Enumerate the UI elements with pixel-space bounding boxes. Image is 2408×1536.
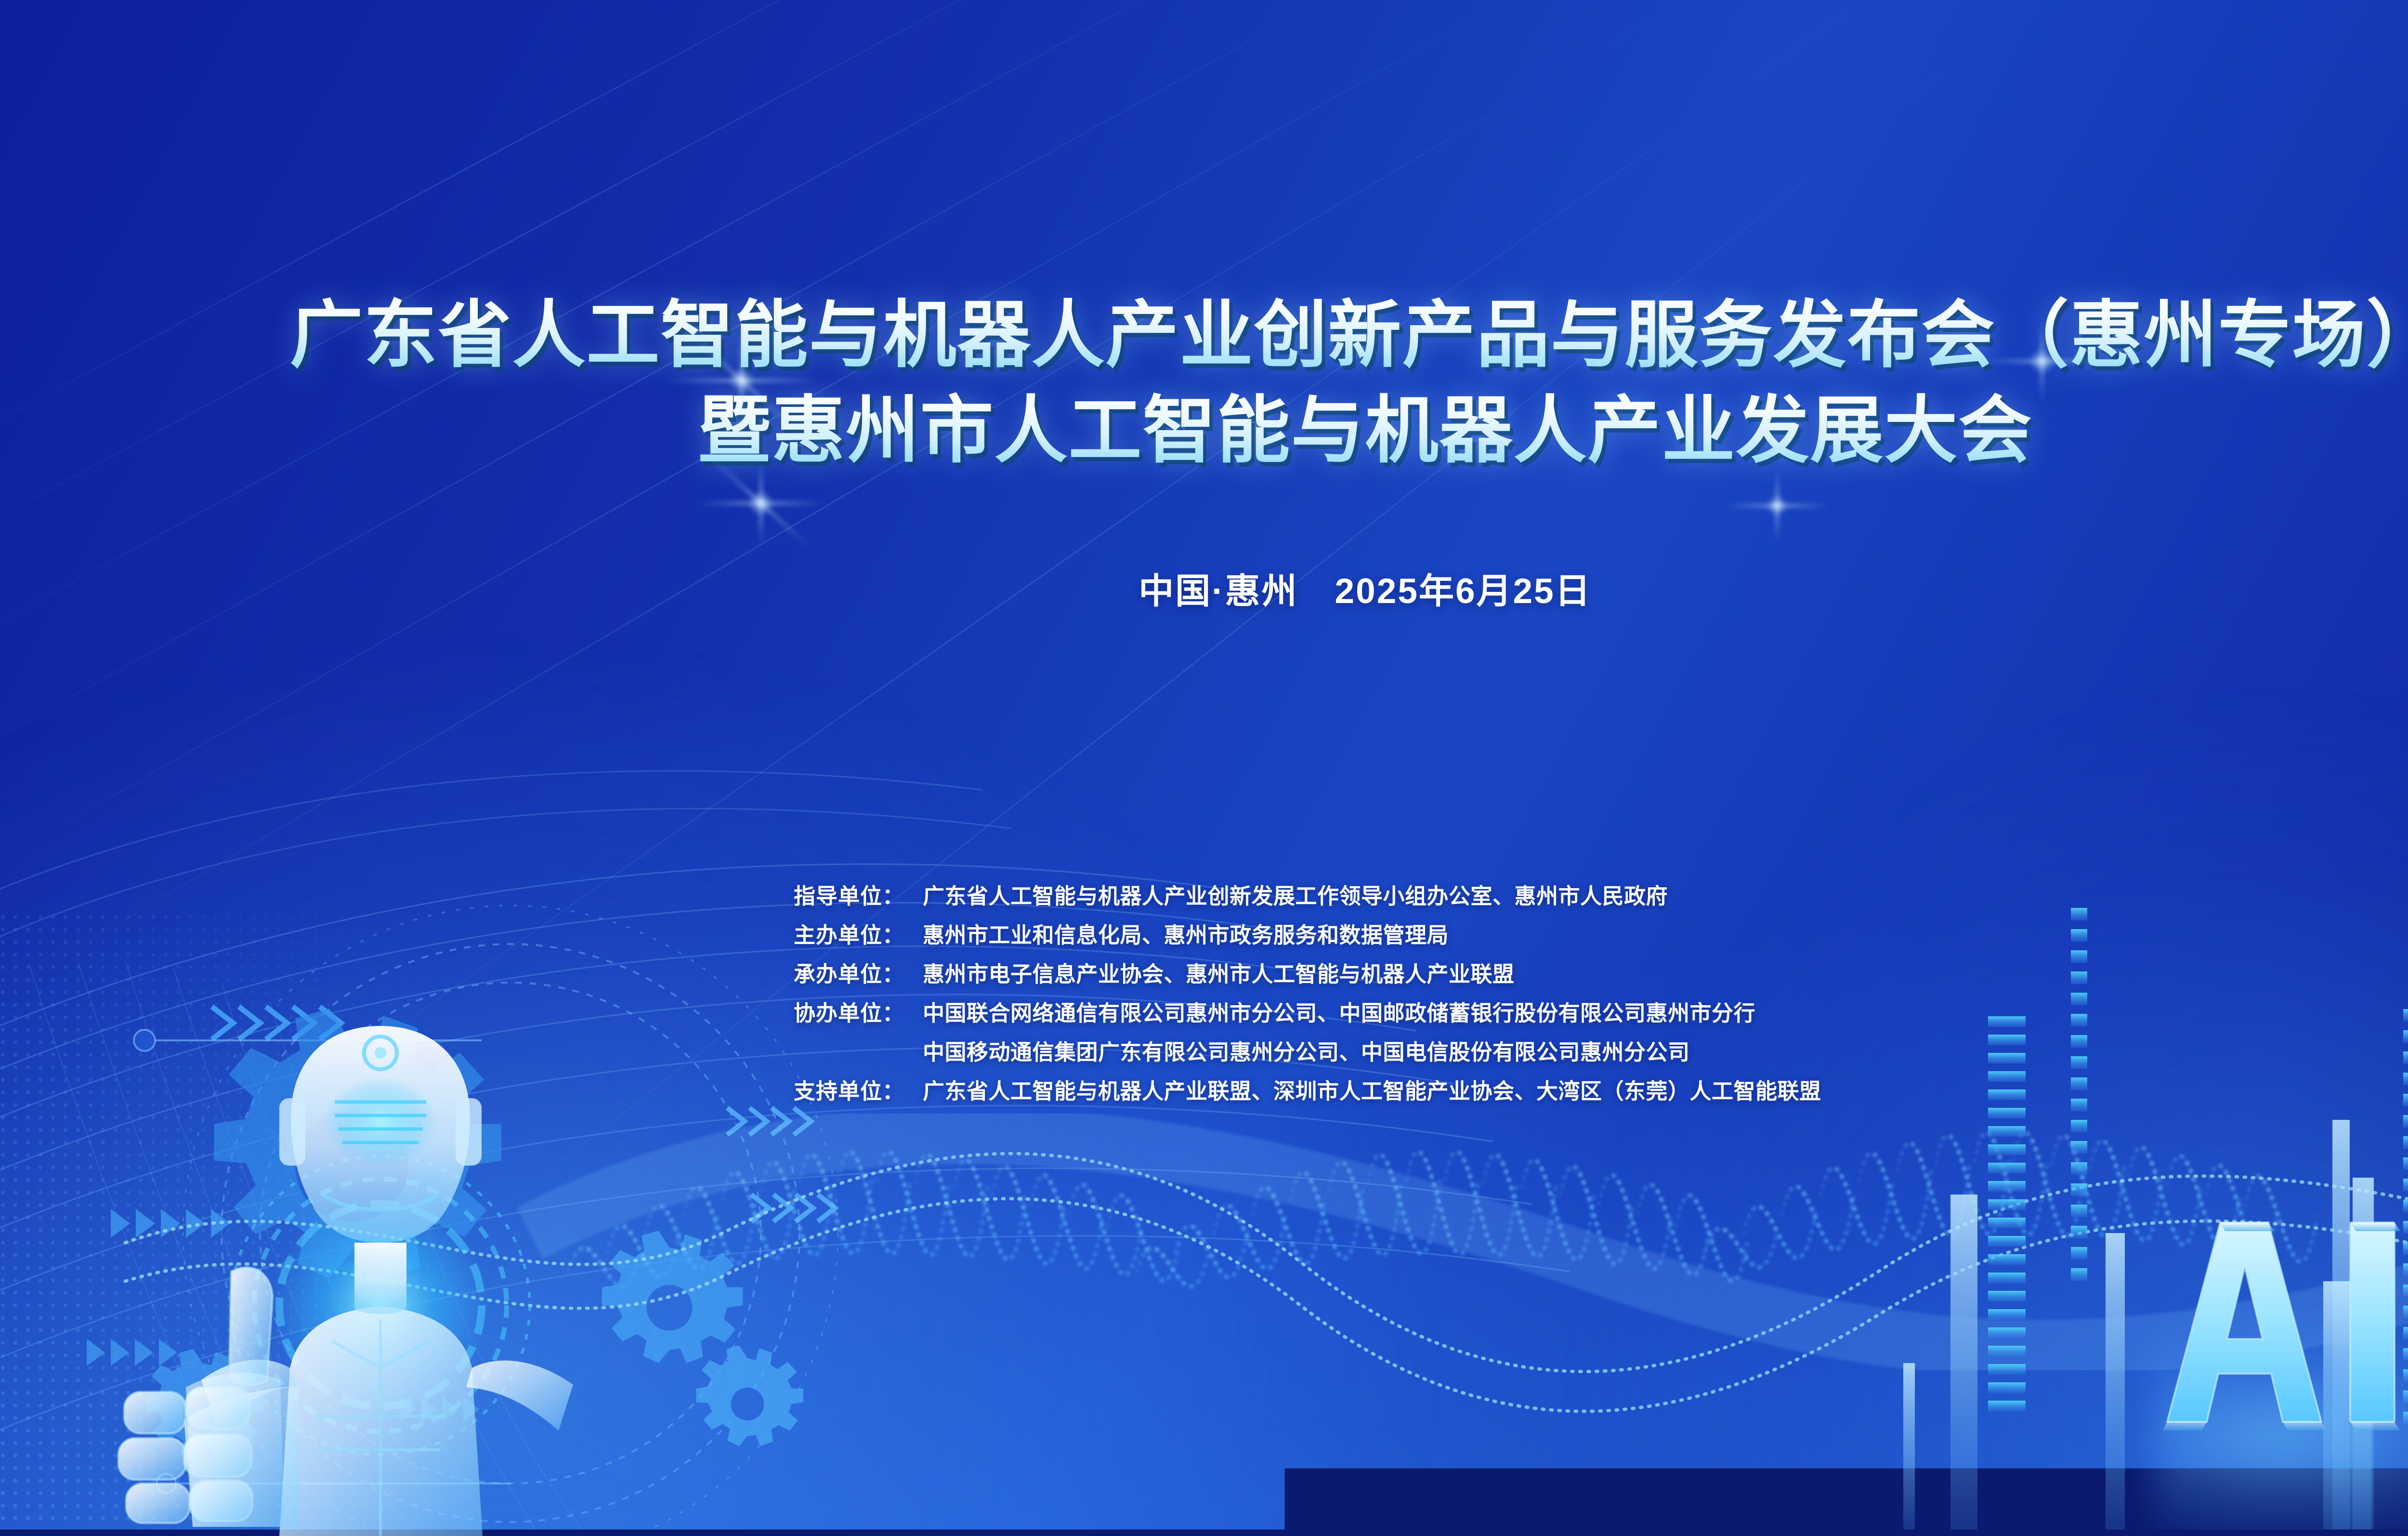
organizer-label: 支持单位： (794, 1080, 923, 1102)
ai-logo-glow (2153, 1310, 2408, 1536)
organizer-value: 惠州市工业和信息化局、惠州市政务服务和数据管理局 (923, 924, 1449, 946)
sweeping-arc-lines (0, 0, 2408, 1536)
organizer-value: 惠州市电子信息产业协会、惠州市人工智能与机器人产业联盟 (923, 963, 1515, 985)
dotted-sound-wave (0, 0, 2408, 1536)
organizer-row: 支持单位： 广东省人工智能与机器人产业联盟、深圳市人工智能产业协会、大湾区（东莞… (794, 1080, 1821, 1102)
organizer-label: 指导单位： (794, 885, 923, 907)
organizer-row: 主办单位： 惠州市工业和信息化局、惠州市政务服务和数据管理局 (794, 924, 1821, 946)
organizer-label: 协办单位： (794, 1002, 923, 1024)
chevron-arrow-icons (0, 0, 2408, 1536)
organizer-value: 中国移动通信集团广东有限公司惠州分公司、中国电信股份有限公司惠州分公司 (923, 1041, 1690, 1063)
organizer-label: 主办单位： (794, 924, 923, 946)
humanoid-robot-figure (72, 906, 674, 1536)
dotted-mesh-layer (0, 0, 2408, 1536)
event-location-date: 中国·惠州 2025年6月25日 (0, 563, 2408, 614)
diagonal-streaks-layer (0, 0, 2408, 1536)
right-glow (1584, 707, 2408, 1536)
organizer-list: 指导单位： 广东省人工智能与机器人产业创新发展工作领导小组办公室、惠州市人民政府… (794, 885, 1821, 1102)
conference-banner: 广东省人工智能与机器人产业创新产品与服务发布会（惠州专场） 暨惠州市人工智能与机… (0, 0, 2408, 1536)
gear-icons (0, 0, 2408, 1536)
segmented-bar-graph (0, 0, 2408, 1536)
organizer-row: 协办单位： 中国联合网络通信有限公司惠州市分公司、中国邮政储蓄银行股份有限公司惠… (794, 1002, 1821, 1024)
organizer-row: 指导单位： 广东省人工智能与机器人产业创新发展工作领导小组办公室、惠州市人民政府 (794, 885, 1821, 907)
organizer-value: 广东省人工智能与机器人产业创新发展工作领导小组办公室、惠州市人民政府 (923, 885, 1668, 907)
title-line-2: 暨惠州市人工智能与机器人产业发展大会 (0, 383, 2408, 479)
organizer-label: 承办单位： (794, 963, 923, 985)
organizer-row-continuation: 协办单位： 中国移动通信集团广东有限公司惠州分公司、中国电信股份有限公司惠州分公… (794, 1041, 1821, 1063)
ai-logo (2148, 1210, 2408, 1431)
organizer-value: 广东省人工智能与机器人产业联盟、深圳市人工智能产业协会、大湾区（东莞）人工智能联… (923, 1080, 1821, 1102)
organizer-value: 中国联合网络通信有限公司惠州市分公司、中国邮政储蓄银行股份有限公司惠州市分行 (923, 1002, 1755, 1024)
title-line-1: 广东省人工智能与机器人产业创新产品与服务发布会（惠州专场） (0, 288, 2408, 383)
organizer-row: 承办单位： 惠州市电子信息产业协会、惠州市人工智能与机器人产业联盟 (794, 963, 1821, 985)
page-title: 广东省人工智能与机器人产业创新产品与服务发布会（惠州专场） 暨惠州市人工智能与机… (0, 288, 2408, 478)
